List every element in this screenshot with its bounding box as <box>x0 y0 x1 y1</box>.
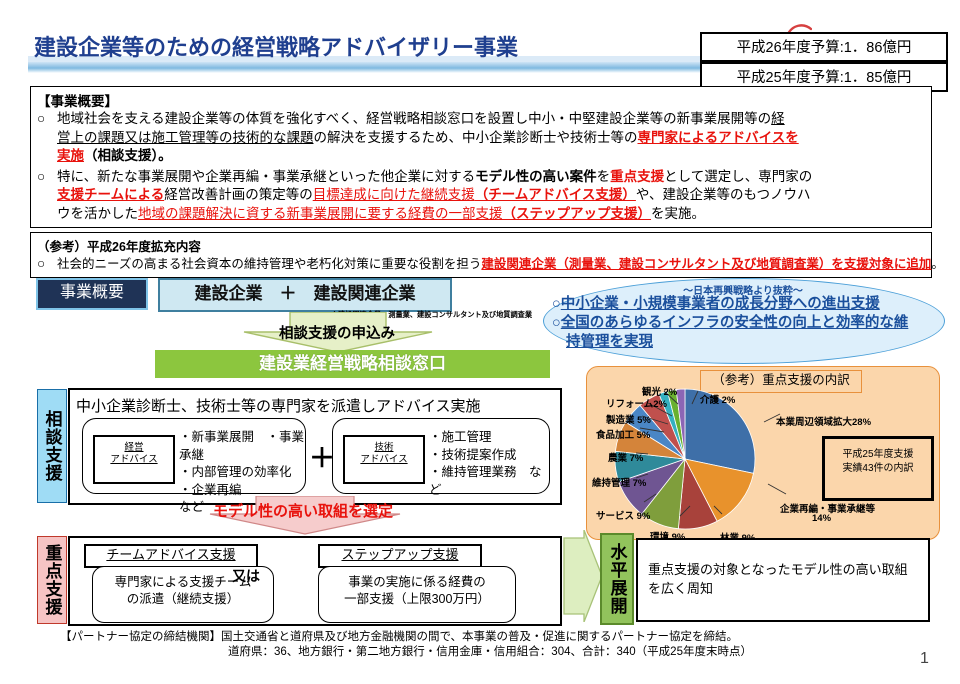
pie-label-food: 食品加工 5% <box>596 427 650 441</box>
horizontal-deploy-arrow-icon <box>562 530 604 622</box>
tag-priority-support: 重点支援 <box>37 536 67 624</box>
pie-label-reorg-2: 14% <box>812 513 831 524</box>
section-tag-overview: 事業概要 <box>36 278 148 310</box>
overview-heading: 【事業概要】 <box>31 87 931 110</box>
overview-item2-line2: 支援チームによる経営改善計画の策定等の目標達成に向けた継続支援（チームアドバイス… <box>57 186 925 205</box>
tag-horizontal-deploy: 水平展開 <box>600 533 634 625</box>
management-advice-group: 経営 アドバイス ・新事業展開 ・事業承継 ・内部管理の効率化 ・企業再編 など <box>82 418 306 494</box>
consultation-detail-box: 中小企業診断士、技術士等の専門家を派遣しアドバイス実施 経営 アドバイス ・新事… <box>68 388 562 505</box>
reference-box: （参考）平成26年度拡充内容 ○ 社会的ニーズの高まる社会資本の維持管理や老朽化… <box>30 232 932 278</box>
stepup-header: ステップアップ支援 <box>318 544 482 568</box>
technical-advice-bullets: ・施工管理 ・技術提案作成 ・維持管理業務 など <box>429 429 549 499</box>
team-advice-header: チームアドバイス支援 <box>84 544 258 568</box>
reference-heading: （参考）平成26年度拡充内容 <box>31 233 931 255</box>
management-advice-badge: 経営 アドバイス <box>93 435 175 484</box>
bullet-circle-icon: ○ <box>37 255 57 274</box>
consultation-detail-title: 中小企業診断士、技術士等の専門家を派遣しアドバイス実施 <box>70 390 560 416</box>
slide-canvas: 建設企業等のための経営戦略アドバイザリー事業 平成26年度予算:1．86億円 平… <box>0 0 960 684</box>
horizontal-deploy-text: 重点支援の対象となったモデル性の高い取組 を広く周知 <box>648 560 918 598</box>
footer-line-2: 道府県：36、地方銀行・第二地方銀行・信用金庫・信用組合：304、合計：340（… <box>60 643 920 659</box>
balloon-line-3: 持管理を実現 <box>552 333 942 352</box>
pie-label-main: 本業周辺領域拡大28% <box>776 414 871 428</box>
overview-item1-line1: 地域社会を支える建設企業等の体質を強化すべく、経営戦略相談窓口を設置し中小・中堅… <box>57 110 925 129</box>
tag-consultation-support: 相談支援 <box>37 389 67 503</box>
or-connector-label: 又は <box>232 566 260 586</box>
consultation-desk-bar: 建設業経営戦略相談窓口 <box>155 350 550 378</box>
overview-item1-line3: 実施（相談支援）。 <box>57 147 925 166</box>
stepup-body: 事業の実施に係る経費の 一部支援（上限300万円） <box>318 566 516 623</box>
page-number: 1 <box>920 650 929 668</box>
overview-item-2: ○ 特に、新たな事業展開や企業再編・事業承継といった他企業に対するモデル性の高い… <box>31 168 931 224</box>
pie-label-reform: リフォーム2% <box>606 396 667 410</box>
balloon-line-1: ○中小企業・小規模事業者の成長分野への進出支援 <box>552 295 942 314</box>
balloon-body: ○中小企業・小規模事業者の成長分野への進出支援 ○全国のあらゆるインフラの安全性… <box>552 295 942 352</box>
pie-label-agriculture: 農業 7% <box>608 450 643 464</box>
model-selection-label: モデル性の高い取組を選定 <box>178 500 428 521</box>
bullet-circle-icon: ○ <box>37 110 57 166</box>
budget-current-box: 平成26年度予算:1．86億円 <box>700 32 948 62</box>
construction-companies-box: 建設企業 ＋ 建設関連企業 <box>158 278 452 312</box>
overview-item1-line2: 営上の課題又は施工管理等の技術的な課題の解決を支援するため、中小企業診断士や技術… <box>57 129 925 148</box>
application-arrow-label: 相談支援の申込み <box>232 322 442 343</box>
priority-support-box: チームアドバイス支援 専門家による支援チーム の派遣（継続支援） ステップアップ… <box>68 536 562 626</box>
bullet-circle-icon: ○ <box>37 168 57 224</box>
footer-line-1: 【パートナー協定の締結機関】国土交通省と道府県及び地方金融機関の間で、本事業の普… <box>60 628 920 644</box>
page-title: 建設企業等のための経営戦略アドバイザリー事業 <box>34 30 518 62</box>
balloon-line-2: ○全国のあらゆるインフラの安全性の向上と効率的な維 <box>552 314 942 333</box>
pie-label-care: 介護 2% <box>700 392 735 406</box>
overview-item2-line3: ウを活かした地域の課題解決に資する新事業展開に要する経費の一部支援（ステップアッ… <box>57 205 925 224</box>
technical-advice-badge: 技術 アドバイス <box>343 435 425 484</box>
overview-box: 【事業概要】 ○ 地域社会を支える建設企業等の体質を強化すべく、経営戦略相談窓口… <box>30 86 932 228</box>
technical-advice-group: 技術 アドバイス ・施工管理 ・技術提案作成 ・維持管理業務 など <box>332 418 550 494</box>
reference-line: 社会的ニーズの高まる社会資本の維持管理や老朽化対策に重要な役割を担う建設関連企業… <box>57 255 952 274</box>
pie-label-service: サービス 9% <box>596 508 650 522</box>
reference-item: ○ 社会的ニーズの高まる社会資本の維持管理や老朽化対策に重要な役割を担う建設関連… <box>31 255 931 274</box>
overview-item2-line1: 特に、新たな事業展開や企業再編・事業承継といった他企業に対するモデル性の高い案件… <box>57 168 925 187</box>
overview-item-1: ○ 地域社会を支える建設企業等の体質を強化すべく、経営戦略相談窓口を設置し中小・… <box>31 110 931 166</box>
pie-label-manufacturing: 製造業 5% <box>606 412 651 426</box>
pie-label-maintenance: 維持管理 7% <box>592 475 646 489</box>
